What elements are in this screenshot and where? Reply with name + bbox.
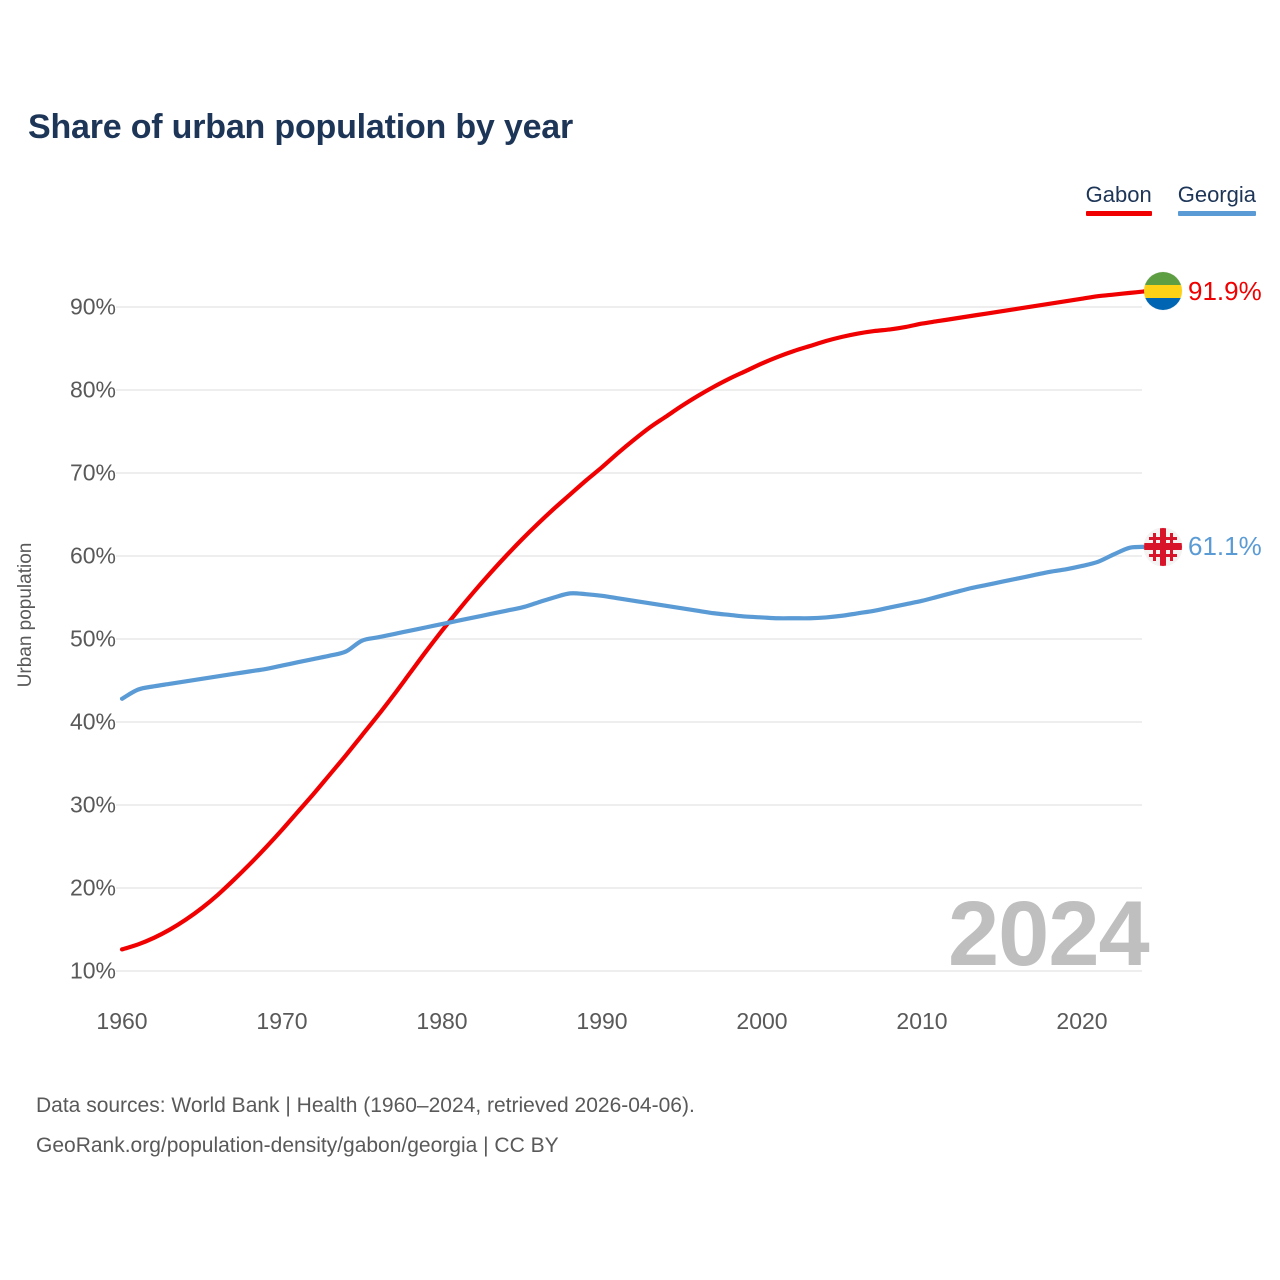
x-tick-label: 1970: [256, 1008, 307, 1035]
gridlines: [116, 307, 1142, 971]
y-tick-label: 30%: [70, 792, 116, 819]
x-tick-label: 2010: [896, 1008, 947, 1035]
x-tick-label: 1980: [416, 1008, 467, 1035]
georgia-flag-icon: [1144, 528, 1182, 566]
y-tick-label: 10%: [70, 958, 116, 985]
y-axis-label: Urban population: [15, 543, 37, 688]
x-tick-label: 2000: [736, 1008, 787, 1035]
y-tick-label: 70%: [70, 460, 116, 487]
y-tick-label: 90%: [70, 294, 116, 321]
x-tick-label: 1960: [96, 1008, 147, 1035]
y-tick-label: 60%: [70, 543, 116, 570]
y-tick-label: 20%: [70, 875, 116, 902]
y-tick-label: 80%: [70, 377, 116, 404]
gabon-end-value: 91.9%: [1188, 276, 1262, 307]
chart-page: Share of urban population by year Gabon …: [0, 0, 1280, 1280]
x-tick-label: 2020: [1056, 1008, 1107, 1035]
footer-attribution: GeoRank.org/population-density/gabon/geo…: [36, 1126, 695, 1166]
y-tick-label: 50%: [70, 626, 116, 653]
chart-footer: Data sources: World Bank | Health (1960–…: [36, 1086, 695, 1166]
y-tick-label: 40%: [70, 709, 116, 736]
series-line-georgia: [122, 547, 1146, 699]
end-marker-gabon: 91.9%: [1144, 272, 1262, 310]
georgia-end-value: 61.1%: [1188, 531, 1262, 562]
footer-data-sources: Data sources: World Bank | Health (1960–…: [36, 1086, 695, 1126]
x-tick-label: 1990: [576, 1008, 627, 1035]
gabon-flag-icon: [1144, 272, 1182, 310]
end-marker-georgia: 61.1%: [1144, 528, 1262, 566]
